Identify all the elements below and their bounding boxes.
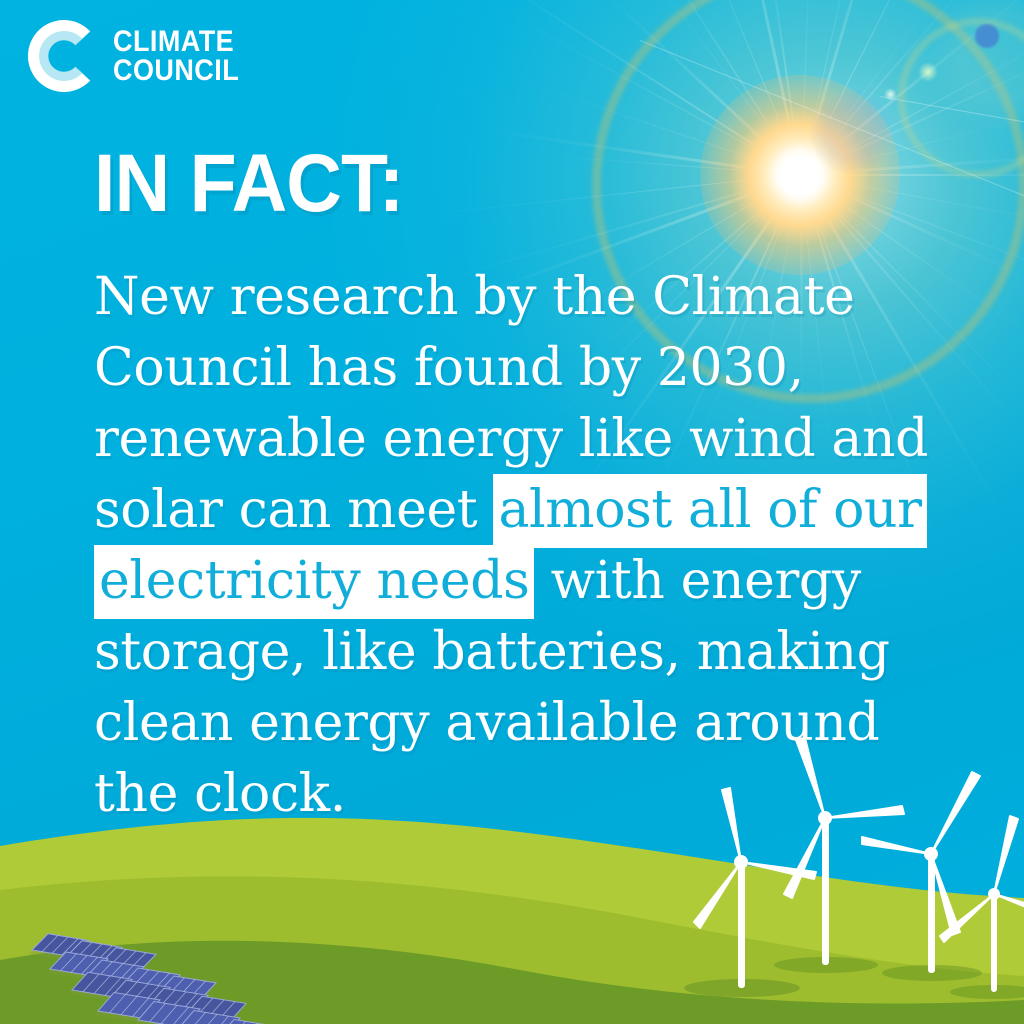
climate-council-c-mark-icon: [28, 20, 100, 92]
logo-line-2: COUNCIL: [113, 56, 239, 85]
fact-card-graphic: CLIMATE COUNCIL IN FACT: New research by…: [0, 0, 1024, 1024]
lens-flare-dot-icon: [918, 62, 938, 82]
lens-flare-icon: [810, 90, 894, 174]
logo-line-1: CLIMATE: [113, 27, 239, 56]
climate-council-logo[interactable]: CLIMATE COUNCIL: [28, 20, 253, 92]
solar-panel-array-icon: [10, 920, 330, 1024]
body-copy: New research by the Climate Council has …: [94, 262, 974, 830]
headline: IN FACT:: [94, 145, 403, 223]
wind-turbine-icon: [950, 822, 1024, 1000]
lens-flare-dot-icon: [975, 24, 999, 48]
